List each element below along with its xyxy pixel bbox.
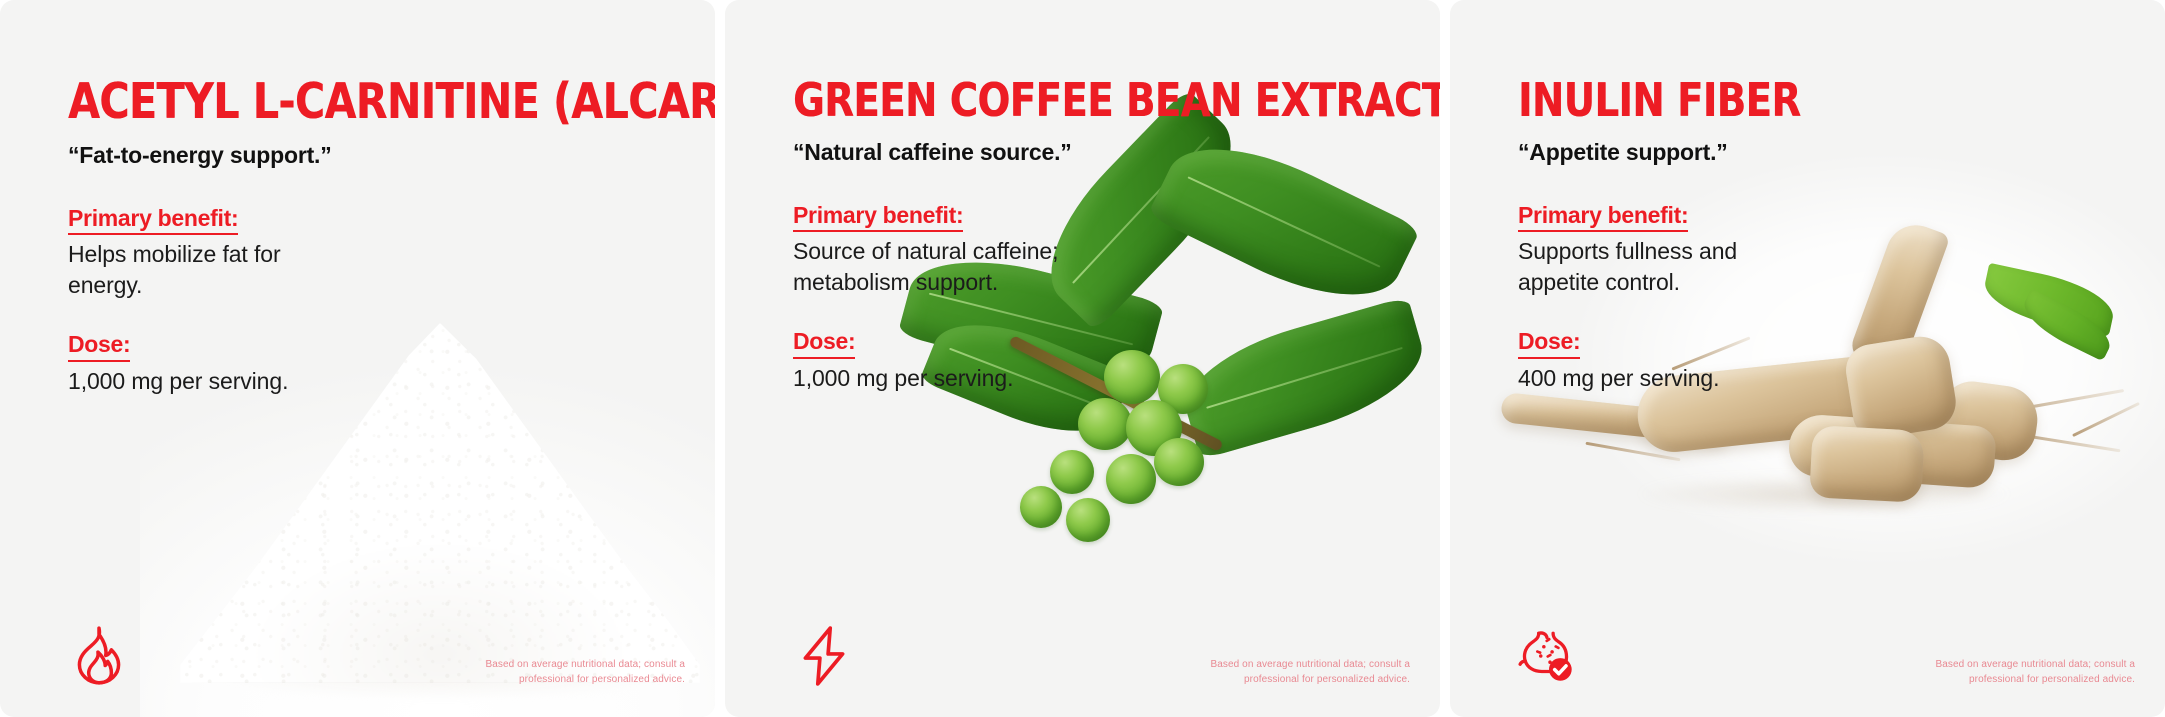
supplement-card-inulin-fiber[interactable]: INULIN FIBER “Appetite support.” Primary…: [1450, 0, 2165, 717]
stomach-check-icon: [1516, 623, 1582, 689]
primary-benefit-block: Primary benefit: Supports fullness and a…: [1518, 201, 2165, 297]
lightning-bolt-icon: [791, 623, 857, 689]
dose-block: Dose: 1,000 mg per serving.: [793, 327, 1440, 393]
primary-benefit-block: Primary benefit: Source of natural caffe…: [793, 201, 1440, 297]
card-tagline: “Appetite support.”: [1518, 139, 2165, 167]
dose-label: Dose:: [793, 327, 855, 359]
card-title: GREEN COFFEE BEAN EXTRACT: [793, 78, 1395, 123]
flame-icon: [66, 623, 132, 689]
primary-benefit-text: Source of natural caffeine; metabolism s…: [793, 236, 1093, 297]
primary-benefit-text: Helps mobilize fat for energy.: [68, 239, 338, 300]
supplement-card-acetyl-l-carnitine[interactable]: ACETYL L-CARNITINE (ALCAR) “Fat-to-energ…: [0, 0, 715, 717]
dose-text: 1,000 mg per serving.: [68, 366, 338, 396]
supplement-card-green-coffee-bean-extract[interactable]: GREEN COFFEE BEAN EXTRACT “Natural caffe…: [725, 0, 1440, 717]
dose-label: Dose:: [68, 330, 130, 362]
card-title: ACETYL L-CARNITINE (ALCAR): [68, 78, 670, 126]
primary-benefit-block: Primary benefit: Helps mobilize fat for …: [68, 204, 715, 300]
dose-block: Dose: 400 mg per serving.: [1518, 327, 2165, 393]
card-disclaimer: Based on average nutritional data; consu…: [455, 658, 685, 687]
card-tagline: “Fat-to-energy support.”: [68, 142, 715, 170]
card-disclaimer: Based on average nutritional data; consu…: [1180, 658, 1410, 687]
card-tagline: “Natural caffeine source.”: [793, 139, 1440, 167]
supplement-card-deck: ACETYL L-CARNITINE (ALCAR) “Fat-to-energ…: [0, 0, 2165, 717]
primary-benefit-label: Primary benefit:: [1518, 201, 1688, 233]
dose-text: 400 mg per serving.: [1518, 363, 1808, 393]
primary-benefit-label: Primary benefit:: [68, 204, 238, 236]
card-disclaimer: Based on average nutritional data; consu…: [1905, 658, 2135, 687]
dose-label: Dose:: [1518, 327, 1580, 359]
card-title: INULIN FIBER: [1518, 78, 2120, 123]
primary-benefit-label: Primary benefit:: [793, 201, 963, 233]
primary-benefit-text: Supports fullness and appetite control.: [1518, 236, 1808, 297]
dose-text: 1,000 mg per serving.: [793, 363, 1093, 393]
dose-block: Dose: 1,000 mg per serving.: [68, 330, 715, 396]
